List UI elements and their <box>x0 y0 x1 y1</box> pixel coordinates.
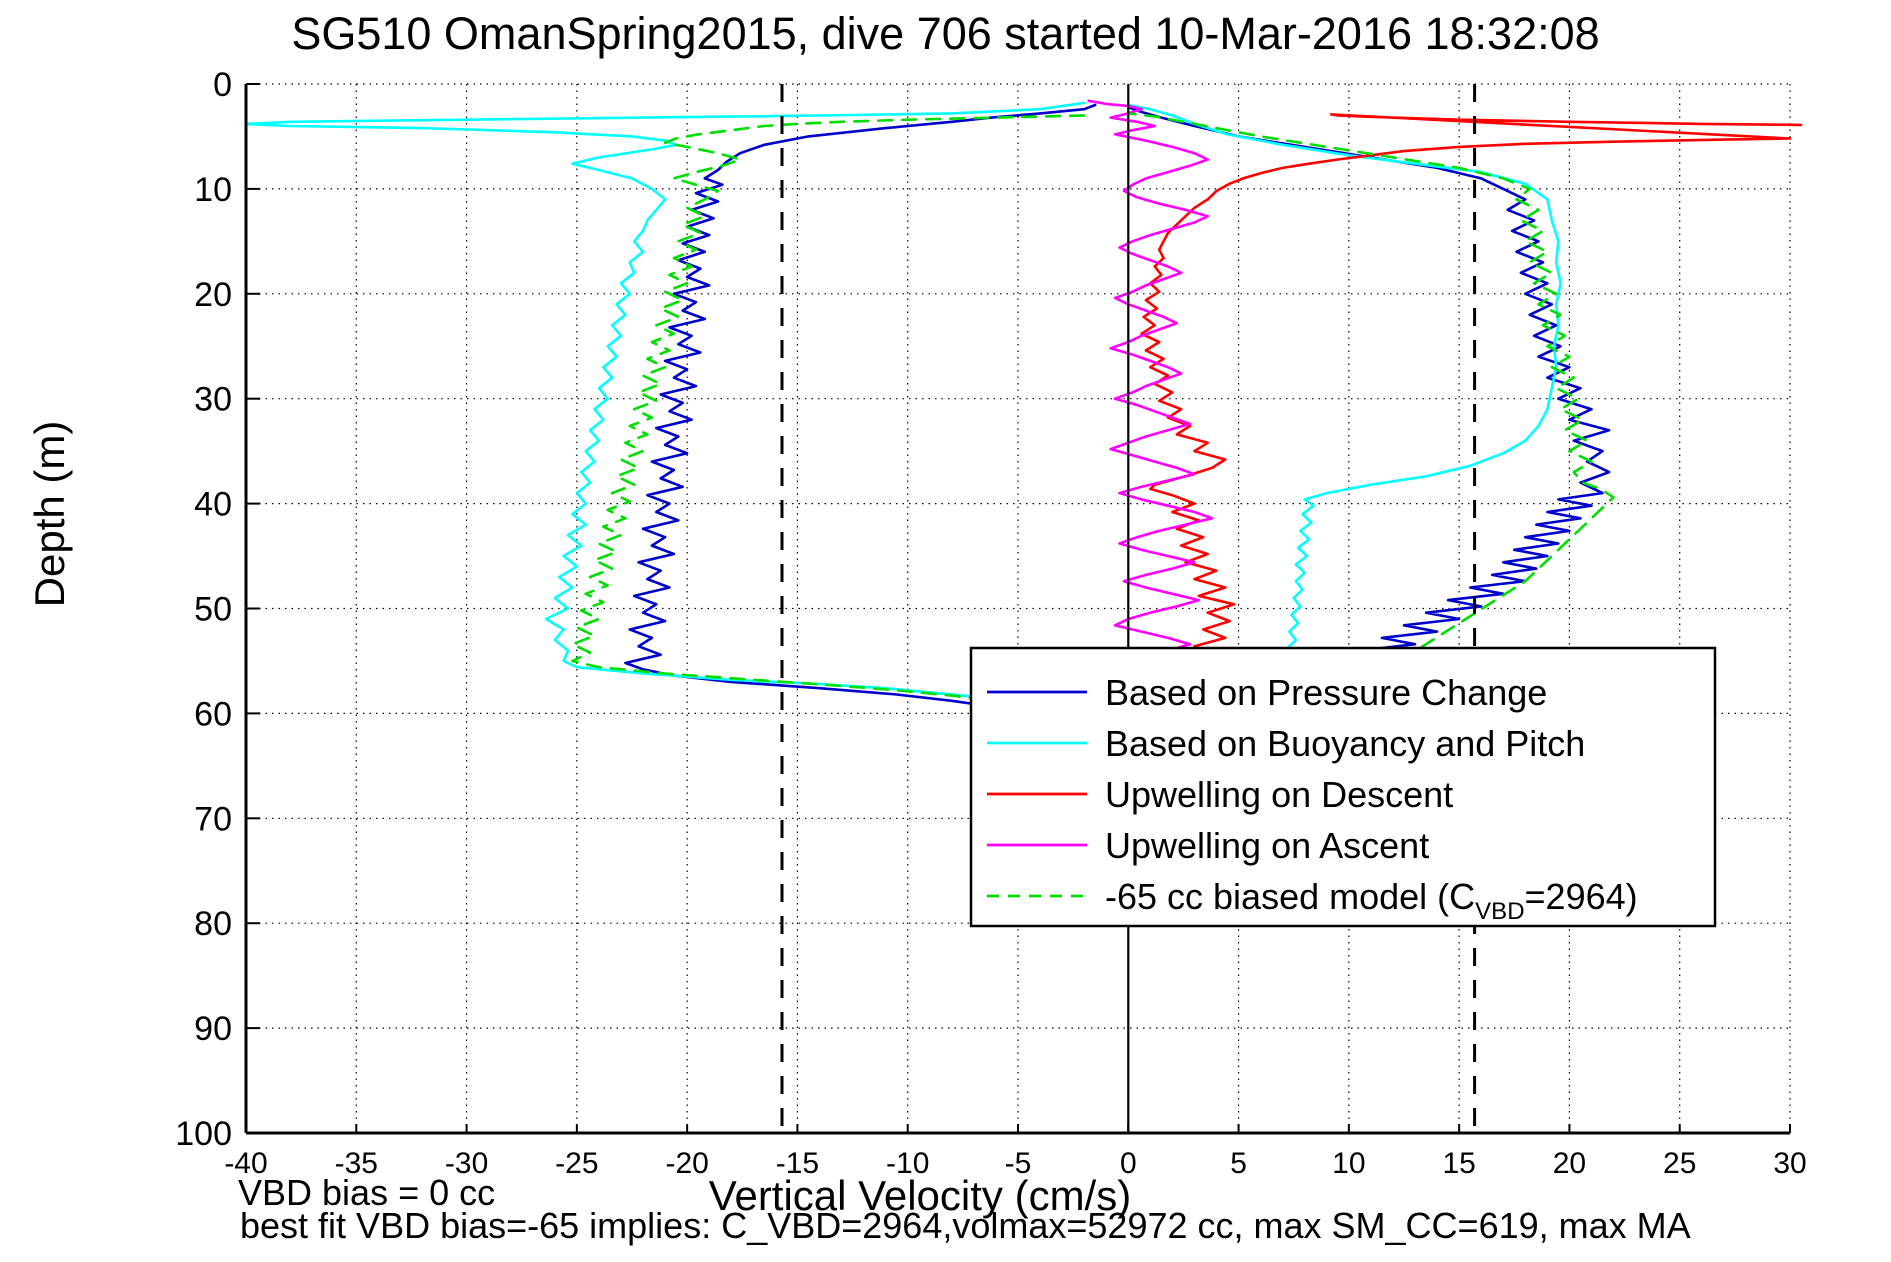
svg-text:-30: -30 <box>445 1147 488 1180</box>
svg-text:15: 15 <box>1442 1147 1475 1180</box>
svg-text:-20: -20 <box>665 1147 708 1180</box>
svg-text:Upwelling on Descent: Upwelling on Descent <box>1105 774 1453 815</box>
svg-text:70: 70 <box>194 800 232 838</box>
tick-labels-layer: -40-35-30-25-20-15-10-505101520253001020… <box>175 66 1806 1180</box>
svg-text:0: 0 <box>213 66 232 104</box>
svg-text:Based on Buoyancy and Pitch: Based on Buoyancy and Pitch <box>1105 723 1585 764</box>
chart-canvas: -40-35-30-25-20-15-10-505101520253001020… <box>0 0 1891 1262</box>
svg-text:-5: -5 <box>1005 1147 1032 1180</box>
svg-text:50: 50 <box>194 591 232 629</box>
svg-text:80: 80 <box>194 905 232 943</box>
svg-text:90: 90 <box>194 1010 232 1048</box>
svg-text:20: 20 <box>1553 1147 1586 1180</box>
svg-text:-10: -10 <box>886 1147 929 1180</box>
svg-text:30: 30 <box>194 381 232 419</box>
svg-text:-15: -15 <box>776 1147 819 1180</box>
svg-text:0: 0 <box>1120 1147 1137 1180</box>
svg-text:10: 10 <box>194 171 232 209</box>
svg-text:100: 100 <box>175 1115 232 1153</box>
svg-text:30: 30 <box>1773 1147 1806 1180</box>
series-layer <box>246 101 1801 735</box>
svg-text:Upwelling on Ascent: Upwelling on Ascent <box>1105 825 1429 866</box>
svg-text:20: 20 <box>194 276 232 314</box>
svg-text:Based on Pressure Change: Based on Pressure Change <box>1105 672 1547 713</box>
svg-text:25: 25 <box>1663 1147 1696 1180</box>
svg-text:40: 40 <box>194 486 232 524</box>
svg-text:-25: -25 <box>555 1147 598 1180</box>
chart-legend: Based on Pressure ChangeBased on Buoyanc… <box>971 648 1715 926</box>
svg-text:5: 5 <box>1230 1147 1247 1180</box>
svg-text:10: 10 <box>1332 1147 1365 1180</box>
svg-text:-35: -35 <box>335 1147 378 1180</box>
svg-text:60: 60 <box>194 695 232 733</box>
